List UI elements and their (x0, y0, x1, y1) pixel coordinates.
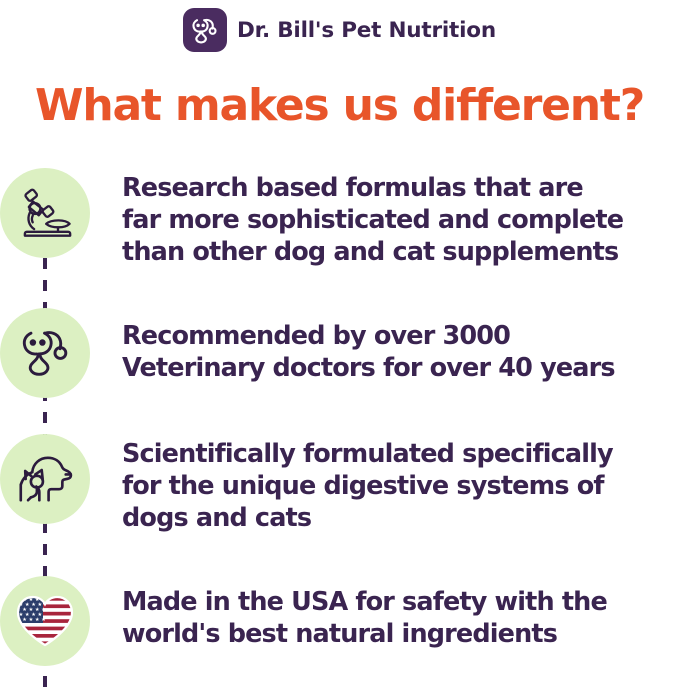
feature-icon-badge (0, 168, 90, 258)
stethoscope-face-icon (14, 322, 76, 384)
feature-item-research: Research based formulas that are far mor… (0, 168, 679, 268)
feature-text: Scientifically formulated specifically f… (122, 438, 679, 534)
feature-item-formulated: Scientifically formulated specifically f… (0, 434, 679, 534)
brand-header: Dr. Bill's Pet Nutrition (0, 6, 679, 54)
brand-name: Dr. Bill's Pet Nutrition (237, 18, 496, 43)
feature-text: Research based formulas that are far mor… (122, 172, 679, 268)
feature-list: Research based formulas that are far mor… (0, 168, 679, 690)
feature-icon-badge (0, 434, 90, 524)
feature-text: Made in the USA for safety with the worl… (122, 586, 679, 650)
dog-and-cat-icon (12, 448, 78, 510)
page-title: What makes us different? (0, 80, 679, 131)
feature-text: Recommended by over 3000 Veterinary doct… (122, 320, 679, 384)
feature-icon-badge: ★ ★ ★ ★ ★ ★ ★ ★ ★ ★ ★ ★ ★ ★ ★ ★ ★ ★ ★ ★ … (0, 576, 90, 666)
stethoscope-face-icon (189, 14, 221, 46)
feature-icon-badge (0, 308, 90, 398)
feature-item-recommended: Recommended by over 3000 Veterinary doct… (0, 308, 679, 398)
usa-flag-heart-icon: ★ ★ ★ ★ ★ ★ ★ ★ ★ ★ ★ ★ ★ ★ ★ ★ ★ ★ ★ ★ … (13, 591, 77, 651)
brand-logo-mark (183, 8, 227, 52)
microscope-icon (14, 182, 76, 244)
feature-item-made-in-usa: ★ ★ ★ ★ ★ ★ ★ ★ ★ ★ ★ ★ ★ ★ ★ ★ ★ ★ ★ ★ … (0, 576, 679, 666)
